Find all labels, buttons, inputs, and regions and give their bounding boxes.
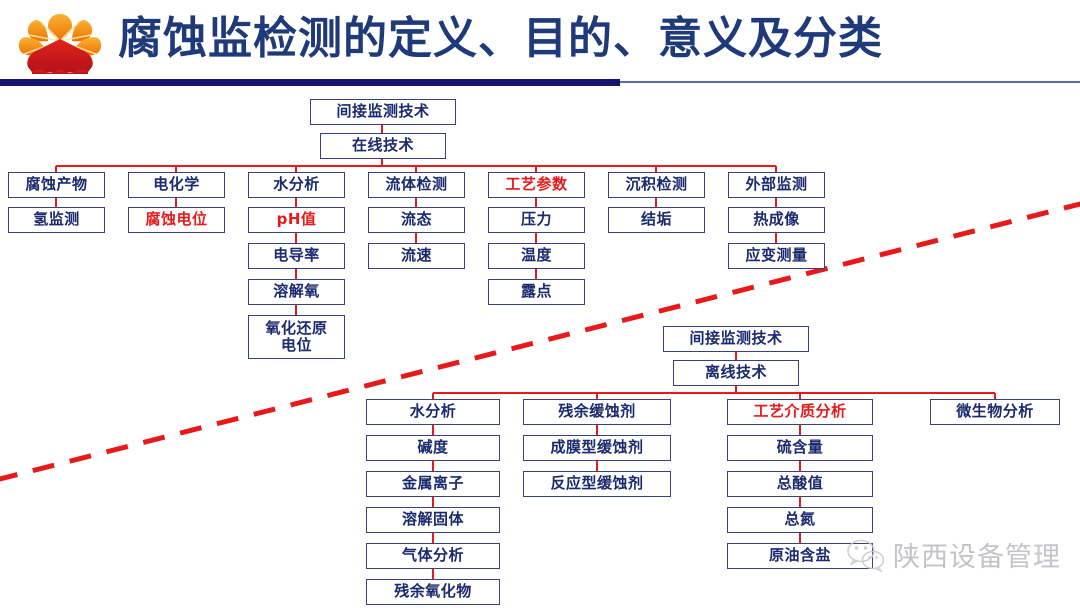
node-reactive-inhibitor[interactable]: 反应型缓蚀剂 — [523, 471, 671, 497]
node-dew-point[interactable]: 露点 — [488, 279, 585, 305]
node-corrosion-products[interactable]: 腐蚀产物 — [8, 172, 105, 198]
node-electrochemistry[interactable]: 电化学 — [128, 172, 225, 198]
node-gas-analysis[interactable]: 气体分析 — [366, 543, 500, 569]
node-metal-ions[interactable]: 金属离子 — [366, 471, 500, 497]
classification-diagram: 间接监测技术 在线技术 腐蚀产物 氢监测 电化学 腐蚀电位 水分析 pH值 电导… — [0, 0, 1080, 608]
node-deposit-detection[interactable]: 沉积检测 — [608, 172, 705, 198]
node-strain-measurement[interactable]: 应变测量 — [728, 243, 825, 269]
node-temperature[interactable]: 温度 — [488, 243, 585, 269]
node-external-monitoring[interactable]: 外部监测 — [728, 172, 825, 198]
node-offline-root[interactable]: 间接监测技术 — [663, 326, 809, 352]
node-corrosion-potential[interactable]: 腐蚀电位 — [128, 207, 225, 233]
node-dissolved-solids[interactable]: 溶解固体 — [366, 507, 500, 533]
node-thermal-imaging[interactable]: 热成像 — [728, 207, 825, 233]
node-fluid-detection[interactable]: 流体检测 — [368, 172, 465, 198]
watermark-text: 陕西设备管理 — [893, 535, 1061, 574]
node-process-medium-analysis[interactable]: 工艺介质分析 — [727, 399, 873, 425]
node-pressure[interactable]: 压力 — [488, 207, 585, 233]
node-microbial-analysis[interactable]: 微生物分析 — [930, 399, 1060, 425]
node-online-subroot[interactable]: 在线技术 — [320, 133, 446, 159]
node-residual-inhibitor[interactable]: 残余缓蚀剂 — [523, 399, 671, 425]
node-film-forming-inhibitor[interactable]: 成膜型缓蚀剂 — [523, 435, 671, 461]
node-scaling[interactable]: 结垢 — [608, 207, 705, 233]
node-sulfur-content[interactable]: 硫含量 — [727, 435, 873, 461]
node-water-analysis-offline[interactable]: 水分析 — [366, 399, 500, 425]
node-redox-potential[interactable]: 氧化还原 电位 — [248, 315, 345, 359]
node-residual-oxidants[interactable]: 残余氧化物 — [366, 579, 500, 605]
wechat-icon — [845, 538, 887, 572]
node-online-root[interactable]: 间接监测技术 — [310, 99, 456, 125]
node-flow-regime[interactable]: 流态 — [368, 207, 465, 233]
node-ph-value[interactable]: pH值 — [248, 207, 345, 233]
watermark: 陕西设备管理 — [845, 535, 1061, 574]
node-conductivity[interactable]: 电导率 — [248, 243, 345, 269]
node-hydrogen-monitoring[interactable]: 氢监测 — [8, 207, 105, 233]
node-alkalinity[interactable]: 碱度 — [366, 435, 500, 461]
node-offline-subroot[interactable]: 离线技术 — [673, 360, 799, 386]
node-process-parameters[interactable]: 工艺参数 — [488, 172, 585, 198]
node-dissolved-oxygen[interactable]: 溶解氧 — [248, 279, 345, 305]
node-flow-velocity[interactable]: 流速 — [368, 243, 465, 269]
node-total-nitrogen[interactable]: 总氮 — [727, 507, 873, 533]
node-total-acid-number[interactable]: 总酸值 — [727, 471, 873, 497]
node-water-analysis-online[interactable]: 水分析 — [248, 172, 345, 198]
